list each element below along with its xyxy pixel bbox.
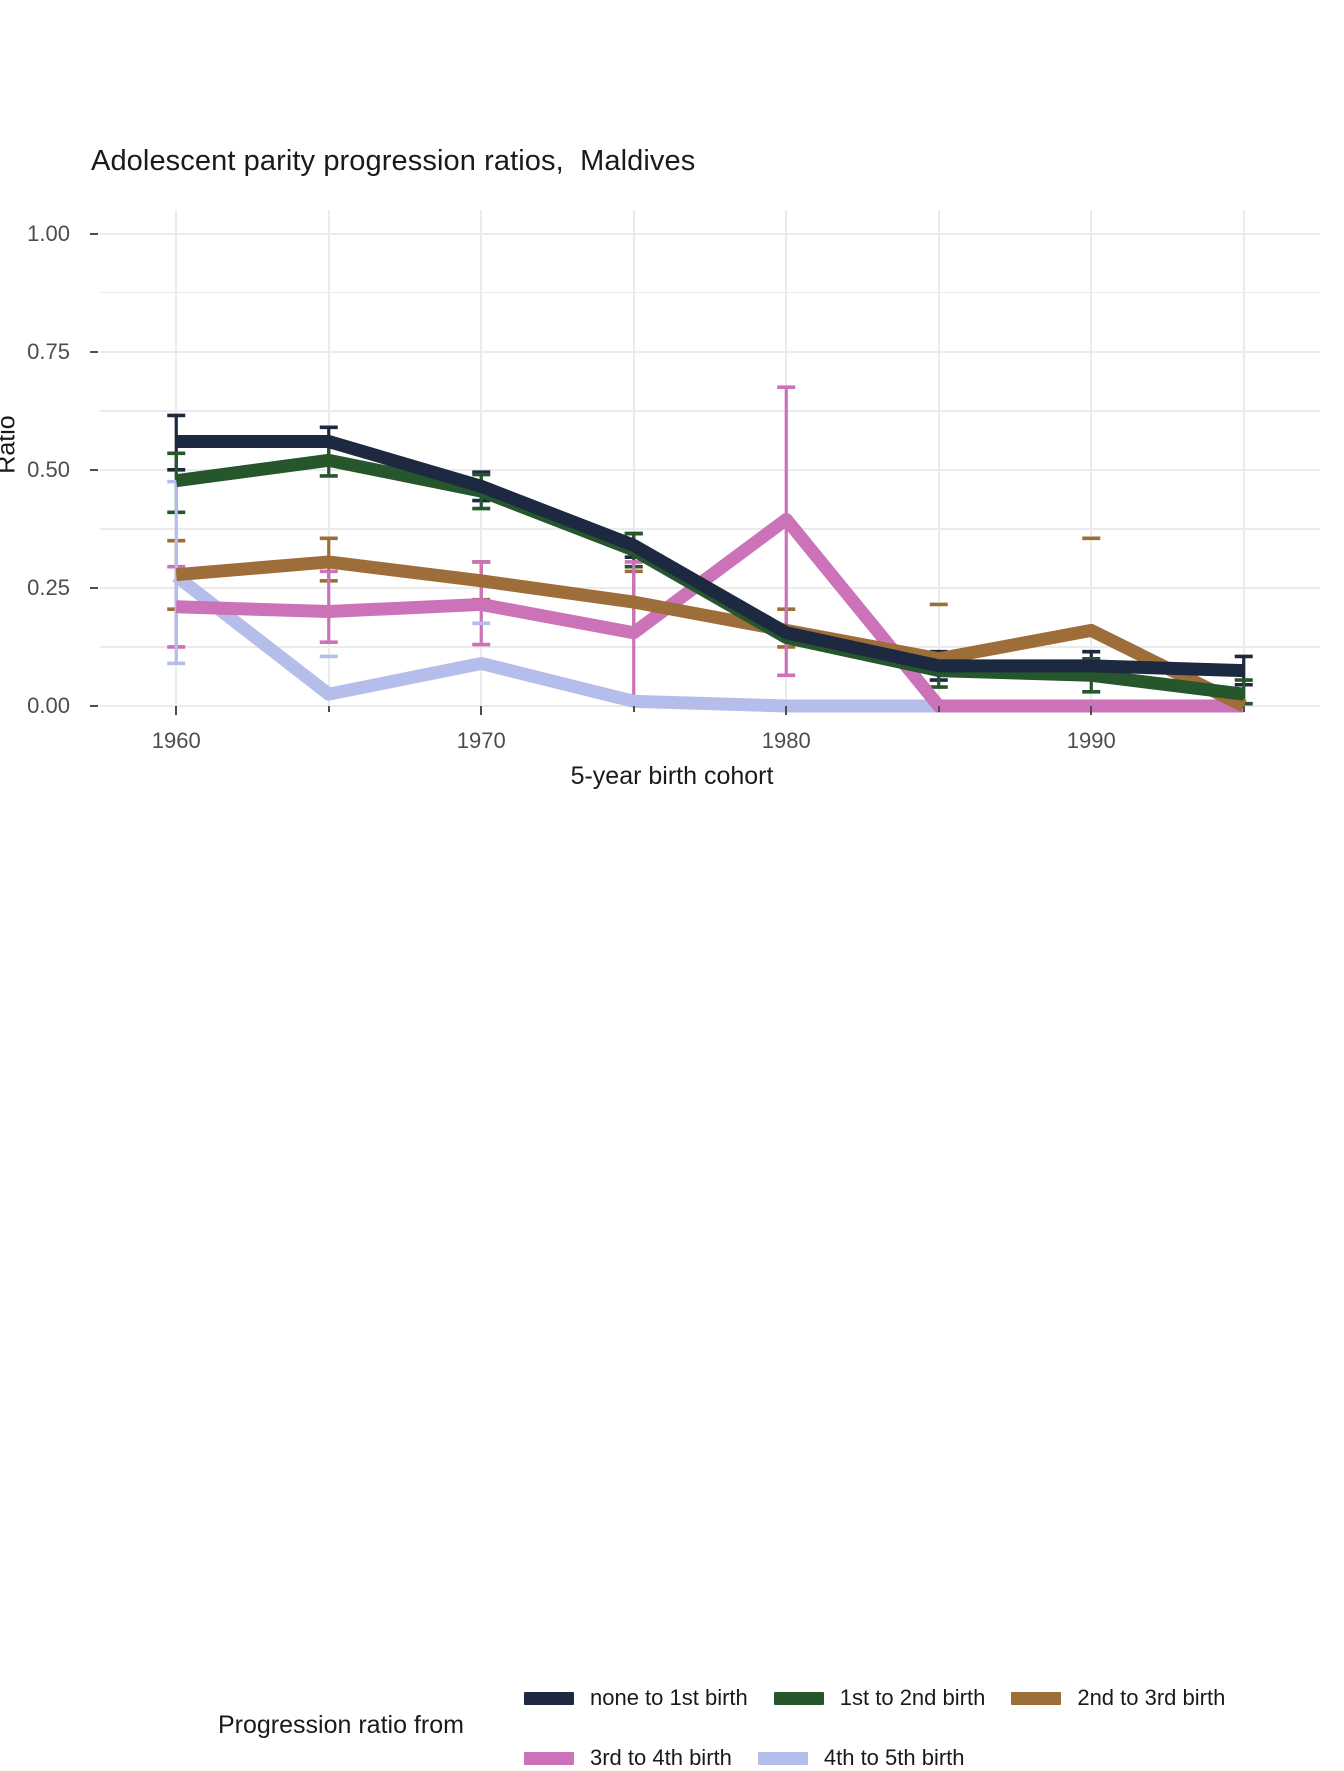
x-axis-tick-mark xyxy=(1090,706,1092,715)
legend-color-key xyxy=(758,1752,808,1765)
y-axis-tick-mark xyxy=(90,351,98,353)
legend-color-key xyxy=(524,1692,574,1705)
x-axis-tick-label: 1960 xyxy=(152,728,201,754)
y-axis-tick-label: 0.75 xyxy=(27,339,70,365)
error-bars xyxy=(167,387,1253,703)
x-axis-tick-mark-minor xyxy=(938,706,940,712)
legend-title: Progression ratio from xyxy=(218,1711,464,1740)
x-axis-tick-label: 1990 xyxy=(1067,728,1116,754)
legend-row-1: none to 1st birth1st to 2nd birth2nd to … xyxy=(524,1685,1251,1711)
legend-item[interactable]: 2nd to 3rd birth xyxy=(1011,1685,1225,1711)
y-axis-tick-label: 1.00 xyxy=(27,221,70,247)
y-axis-tick-mark xyxy=(90,705,98,707)
chart-title: Adolescent parity progression ratios, Ma… xyxy=(91,145,695,178)
legend-item[interactable]: 1st to 2nd birth xyxy=(774,1685,986,1711)
x-axis-tick-mark-minor xyxy=(328,706,330,712)
chart-root: Adolescent parity progression ratios, Ma… xyxy=(0,0,1344,960)
legend-row-2: 3rd to 4th birth4th to 5th birth xyxy=(524,1745,991,1771)
series-layer xyxy=(100,210,1320,706)
legend-color-key xyxy=(774,1692,824,1705)
y-axis-tick-label: 0.00 xyxy=(27,693,70,719)
x-axis-label: 5-year birth cohort xyxy=(0,762,1344,791)
x-axis-tick-mark xyxy=(480,706,482,715)
series-lines xyxy=(176,441,1244,706)
legend-item[interactable]: 3rd to 4th birth xyxy=(524,1745,732,1771)
legend-item-label: none to 1st birth xyxy=(590,1685,748,1711)
legend: Progression ratio from none to 1st birth… xyxy=(0,836,1344,946)
y-axis-tick-label: 0.50 xyxy=(27,457,70,483)
plot-panel xyxy=(100,210,1320,706)
legend-item-label: 1st to 2nd birth xyxy=(840,1685,986,1711)
x-axis-tick-labels: 1960197019801990 xyxy=(100,706,1320,766)
x-axis-tick-mark xyxy=(785,706,787,715)
x-axis-tick-label: 1970 xyxy=(457,728,506,754)
legend-item-label: 4th to 5th birth xyxy=(824,1745,965,1771)
y-axis-label: Ratio xyxy=(0,415,22,473)
y-axis-tick-mark xyxy=(90,587,98,589)
legend-item-label: 3rd to 4th birth xyxy=(590,1745,732,1771)
x-axis-tick-label: 1980 xyxy=(762,728,811,754)
y-axis-tick-mark xyxy=(90,469,98,471)
legend-item[interactable]: none to 1st birth xyxy=(524,1685,748,1711)
x-axis-tick-mark-minor xyxy=(633,706,635,712)
x-axis-tick-mark-minor xyxy=(1243,706,1245,712)
y-axis-tick-label: 0.25 xyxy=(27,575,70,601)
legend-item-label: 2nd to 3rd birth xyxy=(1077,1685,1225,1711)
legend-color-key xyxy=(1011,1692,1061,1705)
legend-color-key xyxy=(524,1752,574,1765)
y-axis-tick-mark xyxy=(90,233,98,235)
x-axis-tick-mark xyxy=(175,706,177,715)
legend-item[interactable]: 4th to 5th birth xyxy=(758,1745,965,1771)
